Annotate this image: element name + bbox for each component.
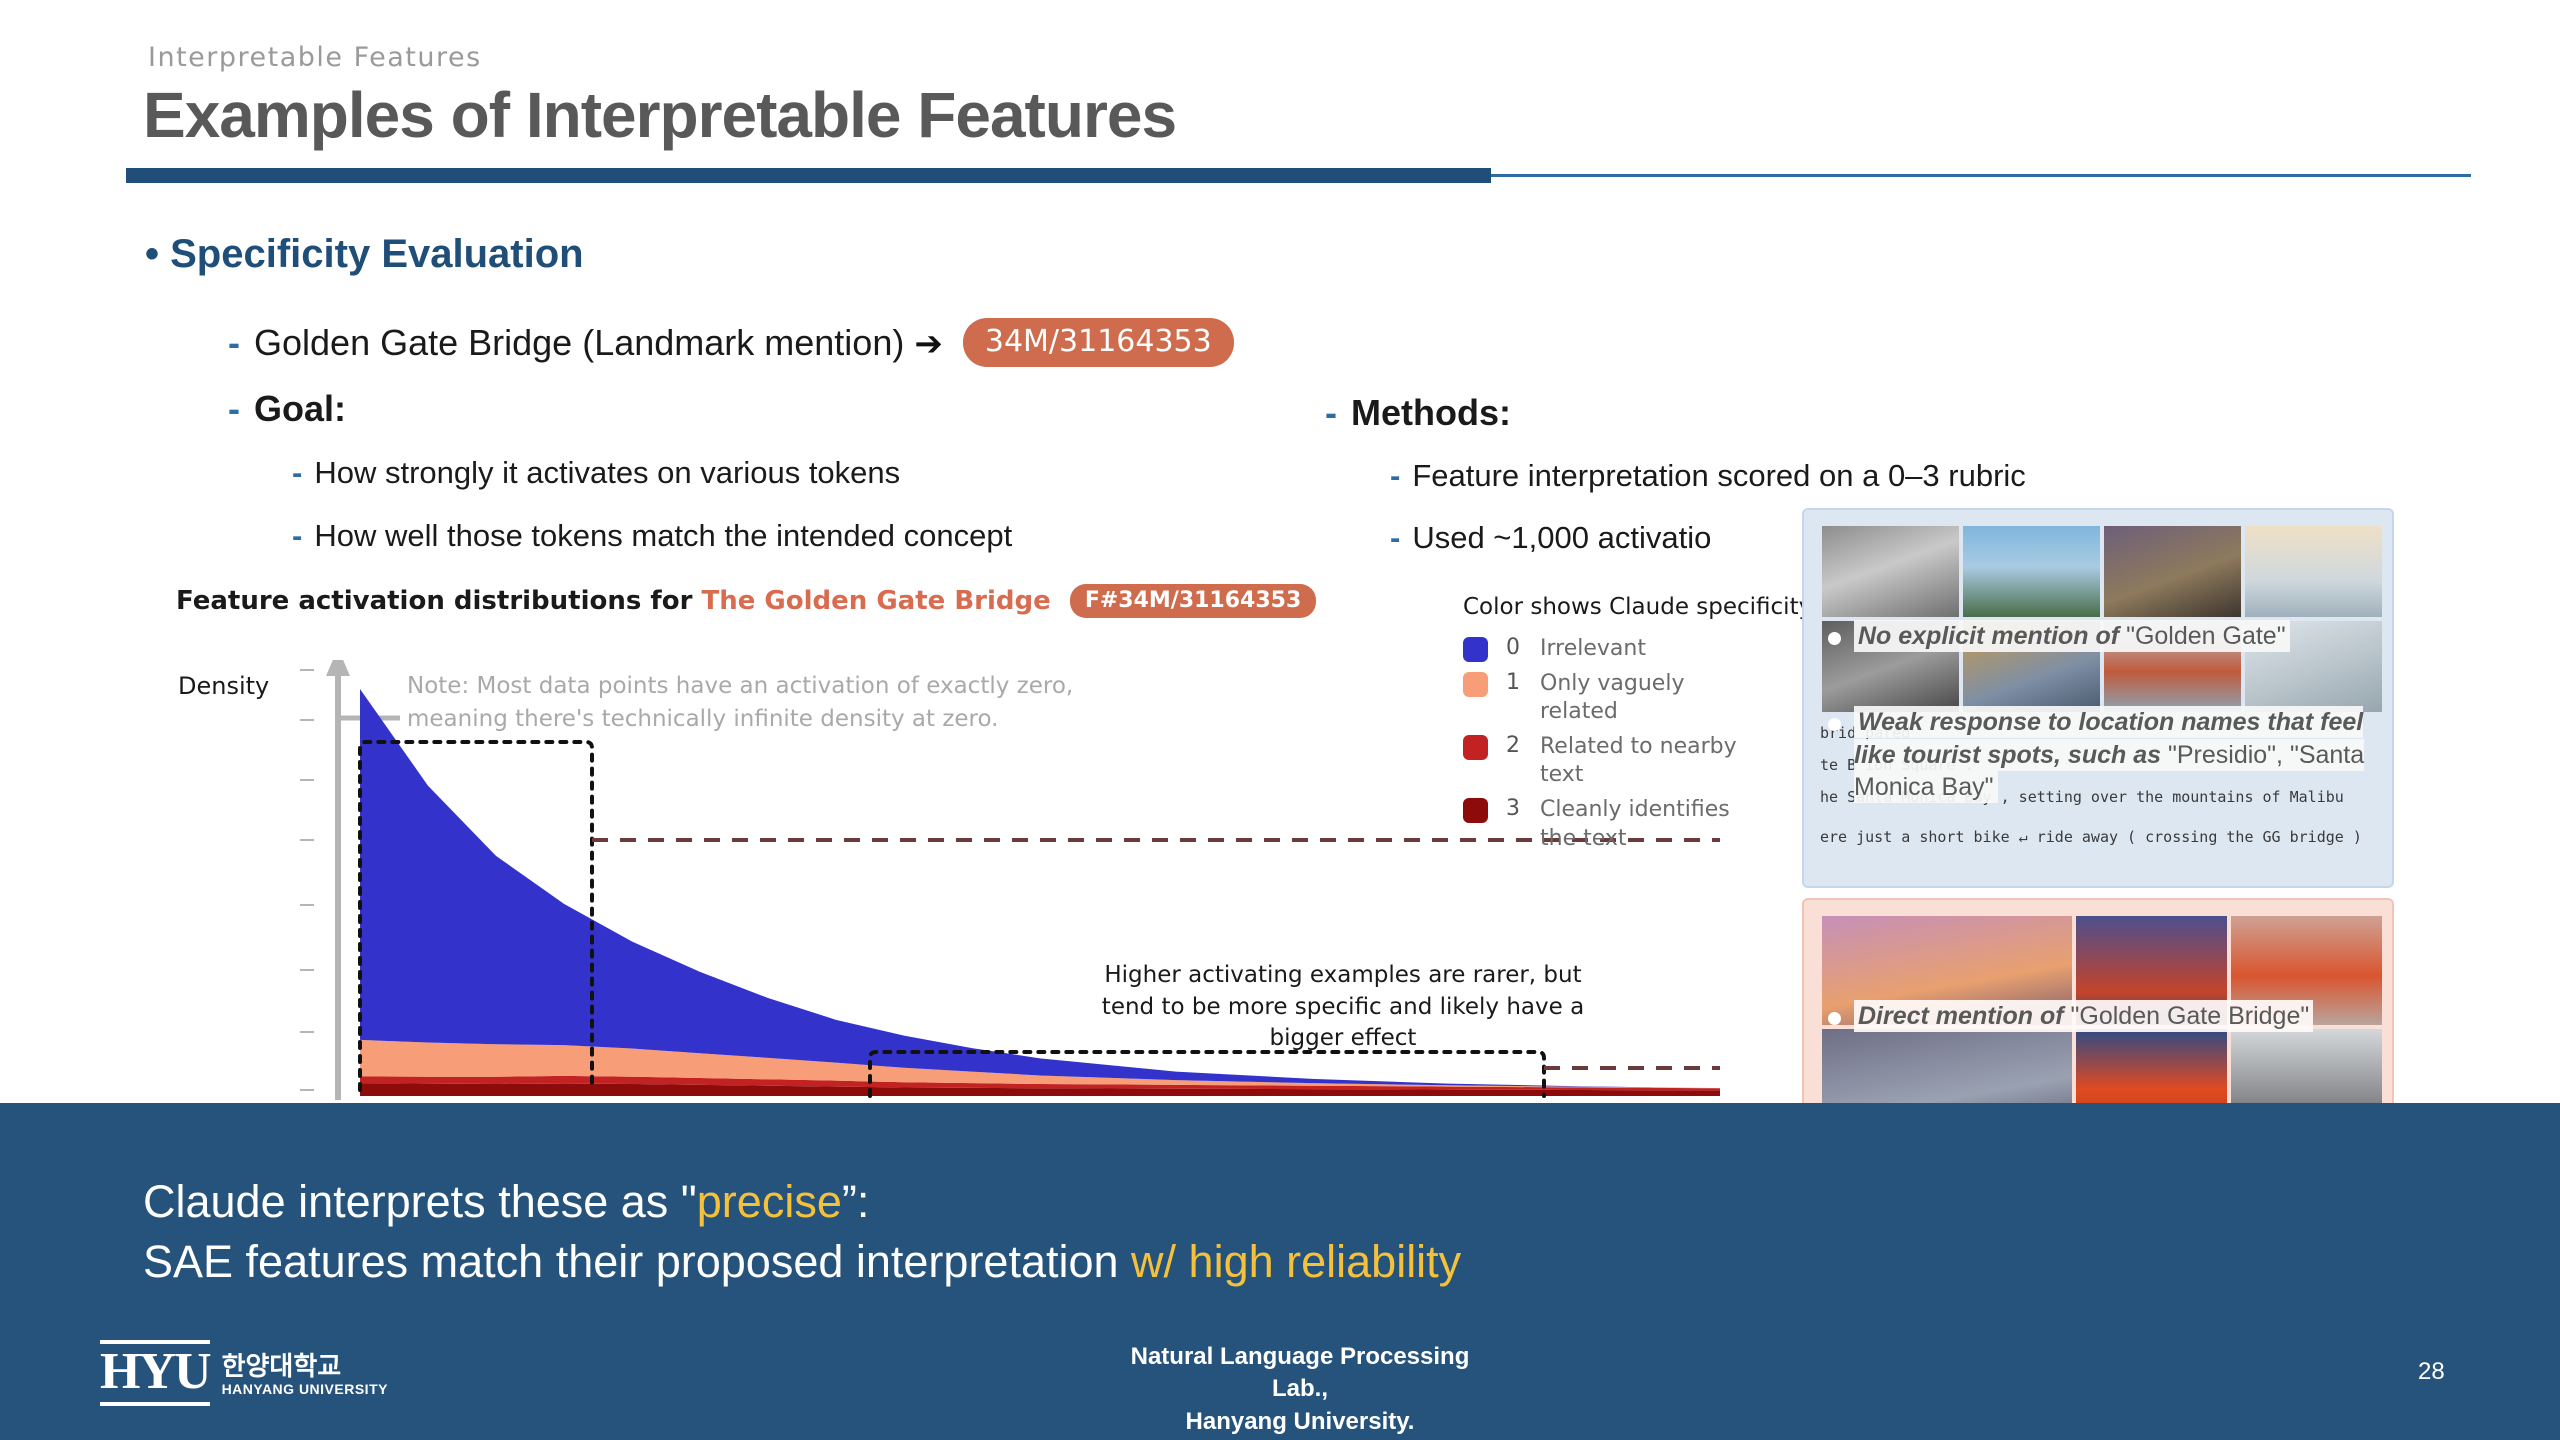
legend-score: 3 (1506, 796, 1540, 821)
goal-item-text: How well those tokens match the intended… (314, 518, 1012, 553)
photo-golden-gate-day (1963, 526, 2100, 617)
logo-english-text: HANYANG UNIVERSITY (222, 1381, 388, 1397)
banner-line1-b: ”: (842, 1176, 870, 1227)
banner-line2-a: SAE features match their proposed interp… (143, 1236, 1131, 1287)
logo-korean-block: 한양대학교 HANYANG UNIVERSITY (222, 1349, 388, 1396)
footer-lab-name: Natural Language Processing Lab., Hanyan… (1100, 1341, 1500, 1438)
dash-marker: - (1390, 458, 1400, 493)
legend-swatch-icon (1463, 798, 1488, 823)
slide: Interpretable Features Examples of Inter… (0, 0, 2560, 1440)
legend-label: Irrelevant (1540, 635, 1646, 664)
feature-id-badge: 34M/31164353 (963, 318, 1234, 367)
photo-coit-tower (2245, 526, 2382, 617)
legend-score: 1 (1506, 670, 1540, 695)
callout-bold-text: No explicit mention of (1858, 622, 2126, 650)
logo-korean-text: 한양대학교 (222, 1353, 388, 1380)
callout-bullet-dot (1828, 632, 1841, 645)
goal-label: Goal: (254, 388, 346, 429)
title-rule-dark (126, 168, 1491, 183)
dash-marker: - (292, 518, 302, 553)
bullet-dot: • (145, 232, 159, 277)
goal-item-0: -How strongly it activates on various to… (292, 455, 900, 491)
footer-line-1: Natural Language Processing Lab., (1100, 1341, 1500, 1406)
banner-line-1: Claude interprets these as "precise”: (143, 1172, 1461, 1232)
slide-eyebrow: Interpretable Features (148, 42, 482, 73)
callout-weak-response: Weak response to location names that fee… (1854, 706, 2394, 804)
methods-item-1: -Used ~1,000 activatio (1390, 520, 1711, 556)
photo-bay-bridge-bw (1822, 526, 1959, 617)
page-number: 28 (2418, 1358, 2445, 1386)
photo-bridge-night (2104, 526, 2241, 617)
callout-bold-text: Direct mention of (1858, 1002, 2071, 1030)
goal-item-1: -How well those tokens match the intende… (292, 518, 1012, 554)
banner-text: Claude interprets these as "precise”: SA… (143, 1172, 1461, 1292)
landmark-text: Golden Gate Bridge (Landmark mention) (254, 322, 904, 363)
hyu-logo: HYU 한양대학교 HANYANG UNIVERSITY (100, 1340, 388, 1406)
bullet-landmark: -Golden Gate Bridge (Landmark mention) ➔… (228, 318, 1234, 367)
chart-title: Feature activation distributions for The… (176, 584, 1316, 618)
y-axis-ticks (300, 670, 314, 1090)
methods-item-0: -Feature interpretation scored on a 0–3 … (1390, 458, 2026, 494)
logo-hyu-text: HYU (100, 1340, 210, 1406)
bullet-specificity-label: Specificity Evaluation (170, 232, 583, 276)
axis-arrowhead (326, 660, 350, 676)
dash-marker: - (1390, 520, 1400, 555)
bullet-specificity-evaluation: • Specificity Evaluation (145, 232, 584, 277)
token-line-3: ere just a short bike ↵ ride away ( cros… (1820, 828, 2386, 846)
dash-marker: - (228, 322, 240, 363)
footer-line-2: Hanyang University. (1100, 1406, 1500, 1438)
banner-line1-highlight: precise (697, 1176, 842, 1227)
methods-item-text: Feature interpretation scored on a 0–3 r… (1412, 458, 2025, 493)
chart-title-highlight: The Golden Gate Bridge (701, 586, 1050, 616)
banner-line-2: SAE features match their proposed interp… (143, 1232, 1461, 1292)
chart-feature-badge: F#34M/31164353 (1070, 584, 1316, 618)
bullet-methods: -Methods: (1325, 392, 1511, 434)
methods-item-text: Used ~1,000 activatio (1412, 520, 1711, 555)
callout-rest-text: "Golden Gate" (2126, 622, 2286, 650)
goal-item-text: How strongly it activates on various tok… (314, 455, 900, 490)
legend-label: Only vaguely related (1540, 670, 1755, 727)
title-rule-light (1491, 174, 2471, 177)
page-title: Examples of Interpretable Features (143, 78, 1176, 152)
legend-score: 2 (1506, 733, 1540, 758)
dash-marker: - (292, 455, 302, 490)
callout-rest-text: "Golden Gate Bridge" (2071, 1002, 2310, 1030)
dash-marker: - (228, 388, 240, 429)
callout-bullet-dot (1828, 1012, 1841, 1025)
callout-no-explicit-mention: No explicit mention of "Golden Gate" (1854, 620, 2389, 653)
banner-line2-highlight: w/ high reliability (1131, 1236, 1461, 1287)
legend-label: Cleanly identifies the text (1540, 796, 1755, 853)
panel-no-explicit-mention: brid pared te B ion Square . he Santa Mo… (1802, 508, 2394, 888)
arrow-icon: ➔ (914, 325, 943, 363)
chart-title-prefix: Feature activation distributions for (176, 586, 692, 616)
bullet-goal: -Goal: (228, 388, 346, 430)
photo-grid-top (1822, 526, 2382, 712)
legend-swatch-icon (1463, 637, 1488, 662)
legend-swatch-icon (1463, 735, 1488, 760)
banner-line1-a: Claude interprets these as " (143, 1176, 697, 1227)
dash-marker: - (1325, 392, 1337, 433)
legend-label: Related to nearby text (1540, 733, 1755, 790)
methods-label: Methods: (1351, 392, 1511, 433)
callout-direct-mention: Direct mention of "Golden Gate Bridge" (1854, 1000, 2334, 1033)
legend-score: 0 (1506, 635, 1540, 660)
callout-bullet-dot (1828, 718, 1841, 731)
y-axis-label: Density (178, 672, 269, 700)
token-text: ere just a short bike ↵ ride away ( cros… (1820, 828, 2362, 846)
legend-swatch-icon (1463, 672, 1488, 697)
